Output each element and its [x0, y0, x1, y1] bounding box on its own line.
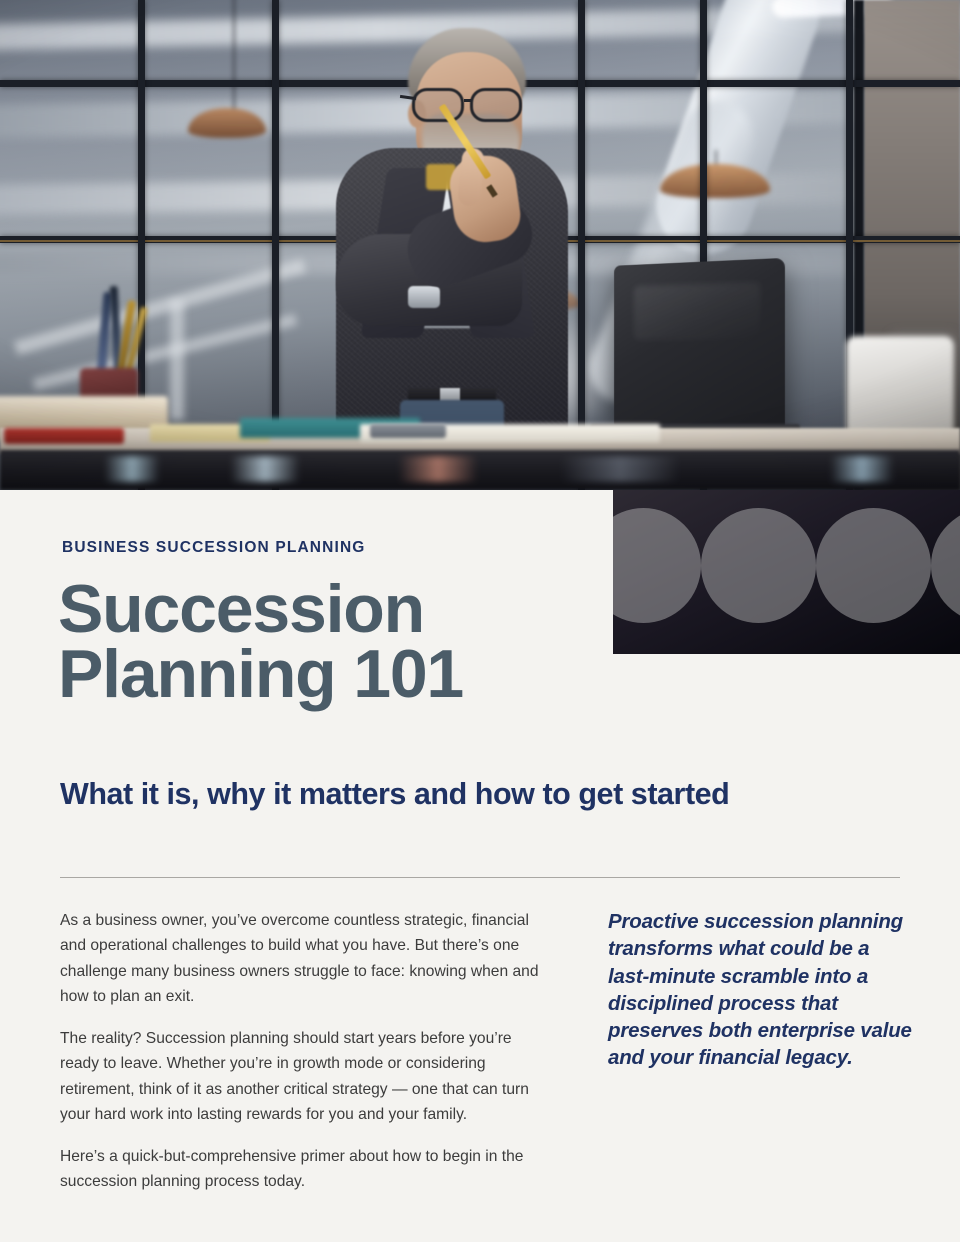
body-paragraph: Here’s a quick-but-comprehensive primer … [60, 1144, 544, 1195]
article-content: BUSINESS SUCCESSION PLANNING SuccessionP… [0, 490, 960, 1242]
article-category-eyebrow: BUSINESS SUCCESSION PLANNING [62, 539, 366, 557]
section-divider [60, 877, 900, 878]
title-line-2: Planning 101 [58, 636, 463, 712]
pull-quote: Proactive succession planning transforms… [608, 908, 914, 1072]
body-paragraph: The reality? Succession planning should … [60, 1026, 544, 1127]
hero-vignette [0, 0, 960, 490]
body-text-column: As a business owner, you’ve overcome cou… [60, 908, 544, 1195]
page-subtitle: What it is, why it matters and how to ge… [60, 777, 930, 812]
page-title: SuccessionPlanning 101 [58, 577, 618, 706]
hero-image [0, 0, 960, 490]
body-paragraph: As a business owner, you’ve overcome cou… [60, 908, 544, 1009]
